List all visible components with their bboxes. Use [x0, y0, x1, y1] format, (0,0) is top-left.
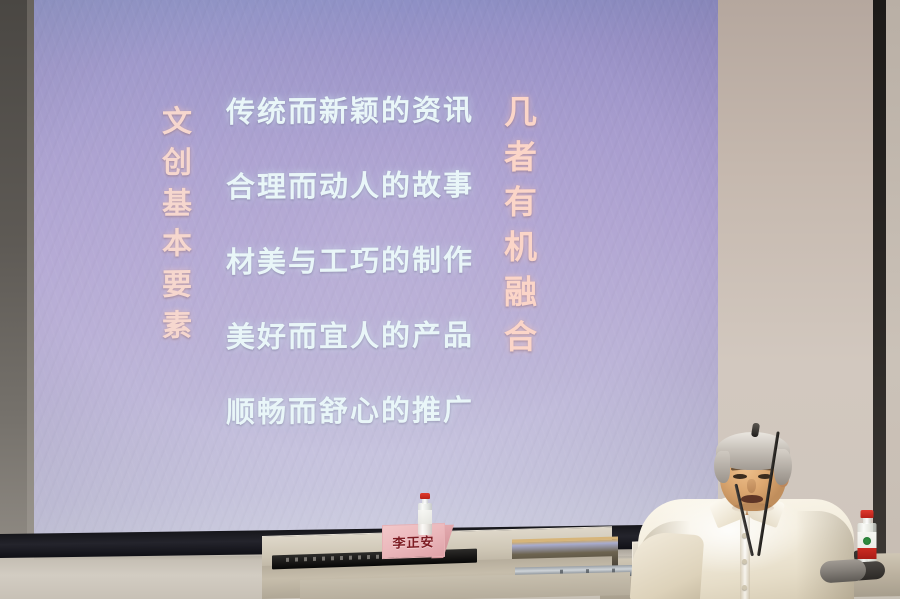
shirt-shadow-right	[796, 511, 854, 599]
left-heading-char: 素	[162, 310, 192, 342]
slide-right-vertical-heading: 几 者 有 机 融 合	[504, 95, 537, 355]
left-heading-char: 创	[162, 147, 192, 179]
slide-line: 美好而宜人的产品	[226, 294, 526, 372]
speaker-eye-left	[733, 474, 747, 479]
right-heading-char: 融	[504, 275, 537, 310]
presentation-slide: 文 创 基 本 要 素 传统而新颖的资讯 合理而动人的故事 材美与工巧的制作 美…	[34, 0, 718, 548]
right-heading-char: 机	[504, 230, 537, 265]
left-heading-char: 基	[162, 188, 192, 220]
bottle-label	[418, 510, 432, 524]
left-heading-char: 文	[162, 106, 192, 138]
speaker-hair-left-side	[714, 451, 730, 483]
slide-line: 合理而动人的故事	[226, 144, 526, 222]
slide-line: 顺畅而舒心的推广	[226, 369, 526, 447]
speaker-nose	[747, 479, 756, 493]
shirt-button	[742, 585, 747, 590]
slide-line: 传统而新颖的资讯	[226, 69, 526, 147]
speaker-mouth	[741, 495, 763, 503]
water-bottle-on-desk	[414, 493, 436, 535]
slide-body-lines: 传统而新颖的资讯 合理而动人的故事 材美与工巧的制作 美好而宜人的产品 顺畅而舒…	[226, 69, 526, 447]
left-heading-char: 要	[162, 270, 192, 302]
speaker-hair-right-side	[774, 449, 792, 485]
left-heading-char: 本	[162, 229, 192, 261]
bottle-cap	[420, 493, 430, 499]
right-heading-char: 者	[504, 140, 537, 175]
shirt-button	[742, 559, 747, 564]
right-heading-char: 几	[504, 95, 537, 130]
far-right-wall	[886, 0, 900, 599]
desk-microphone-head	[819, 558, 866, 583]
slide-line: 材美与工巧的制作	[226, 219, 526, 297]
lecture-hall-photo: 文 创 基 本 要 素 传统而新颖的资讯 合理而动人的故事 材美与工巧的制作 美…	[0, 0, 900, 599]
right-heading-char: 合	[504, 320, 537, 355]
slide-left-vertical-heading: 文 创 基 本 要 素	[162, 106, 192, 342]
right-heading-char: 有	[504, 185, 537, 220]
